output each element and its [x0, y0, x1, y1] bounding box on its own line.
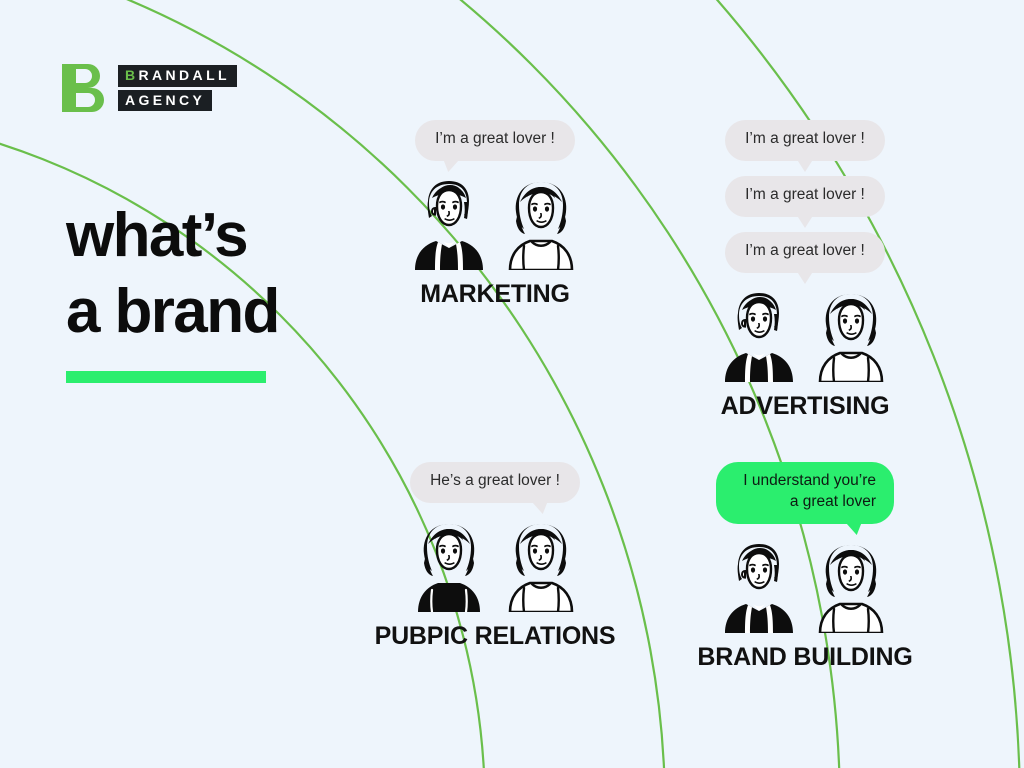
panel-public-relations: He’s a great lover ! [345, 462, 645, 651]
panel-label: PUBPIC RELATIONS [345, 622, 645, 651]
advertising-bubble-group: I’m a great lover ! I’m a great lover ! … [655, 120, 955, 288]
brand-name-accent-letter: B [125, 67, 139, 83]
speech-bubble-tail-icon [796, 270, 814, 284]
speech-bubble: I’m a great lover ! [725, 176, 885, 217]
panel-advertising: I’m a great lover ! I’m a great lover ! … [655, 120, 955, 421]
speech-bubble-tail-icon [530, 500, 551, 514]
speech-bubble-tail-icon [439, 158, 460, 172]
speech-bubble-text: I’m a great lover ! [435, 130, 555, 147]
speech-bubble-tail-icon [844, 521, 865, 535]
brand-building-bubble-group: I understand you’re a great lover [655, 462, 955, 539]
speech-bubble: I’m a great lover ! [725, 120, 885, 161]
speech-bubble-tail-icon [796, 158, 814, 172]
slide-canvas: BRANDALL AGENCY what’s a brand I’m a gre… [0, 0, 1024, 768]
marketing-bubble-group: I’m a great lover ! [345, 120, 645, 176]
brand-building-figures [655, 541, 955, 633]
panel-marketing: I’m a great lover ! [345, 120, 645, 309]
public-relations-bubble-group: He’s a great lover ! [345, 462, 645, 518]
speech-bubble-tail-icon [796, 214, 814, 228]
man-suit-illustration [410, 178, 488, 270]
title-underline-rule [66, 371, 266, 383]
man-suit-illustration [720, 541, 798, 633]
speech-bubble: I understand you’re a great lover [716, 462, 894, 524]
brand-name-line2: AGENCY [118, 90, 212, 112]
page-title-line-1: what’s [66, 198, 279, 274]
panel-brand-building: I understand you’re a great lover [655, 462, 955, 672]
woman-white-top-illustration [502, 178, 580, 270]
woman-white-top-illustration [812, 290, 890, 382]
brandall-b-mark-icon [62, 64, 106, 112]
advertising-figures [655, 290, 955, 382]
speech-bubble-text: I’m a great lover ! [745, 130, 865, 147]
speech-bubble-text: I’m a great lover ! [745, 186, 865, 203]
brand-name-line1: BRANDALL [118, 65, 237, 87]
speech-bubble: I’m a great lover ! [725, 232, 885, 273]
speech-bubble-text: I understand you’re a great lover [743, 472, 876, 510]
woman-white-top-illustration [812, 541, 890, 633]
speech-bubble-text: He’s a great lover ! [430, 472, 560, 489]
speech-bubble: He’s a great lover ! [410, 462, 580, 503]
panel-label: MARKETING [345, 280, 645, 309]
speech-bubble: I’m a great lover ! [415, 120, 575, 161]
man-suit-illustration [720, 290, 798, 382]
panel-label: BRAND BUILDING [655, 643, 955, 672]
woman-black-top-illustration [410, 520, 488, 612]
page-title: what’s a brand [66, 198, 279, 383]
page-title-line-2: a brand [66, 274, 279, 350]
brand-name-rest: RANDALL [139, 67, 230, 83]
woman-white-top-illustration [502, 520, 580, 612]
public-relations-figures [345, 520, 645, 612]
panel-label: ADVERTISING [655, 392, 955, 421]
brand-wordmark: BRANDALL AGENCY [118, 65, 237, 111]
brand-logo[interactable]: BRANDALL AGENCY [62, 64, 237, 112]
speech-bubble-text: I’m a great lover ! [745, 242, 865, 259]
marketing-figures [345, 178, 645, 270]
